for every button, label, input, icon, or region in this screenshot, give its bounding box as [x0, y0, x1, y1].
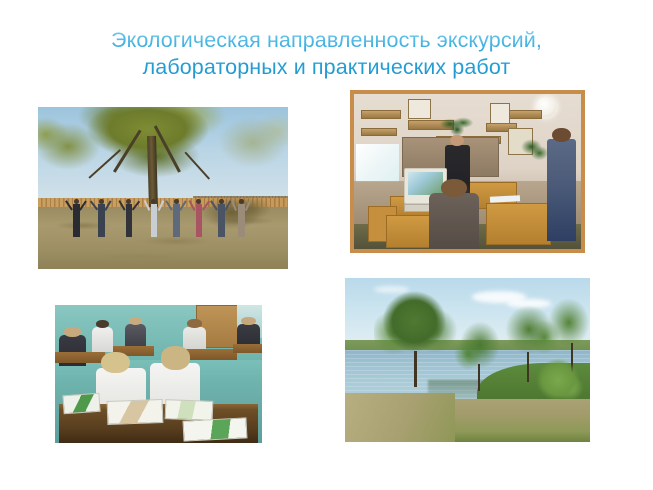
- student-figure: [218, 204, 225, 236]
- textbook: [106, 399, 163, 425]
- student-head: [64, 327, 81, 337]
- tree-trunk: [414, 351, 417, 388]
- standing-student-figure: [547, 139, 577, 241]
- potted-plant: [517, 136, 549, 167]
- wall-plaque: [361, 128, 397, 136]
- student-head: [101, 352, 130, 374]
- student-head: [74, 199, 79, 204]
- student-head: [174, 199, 179, 204]
- teacher-head: [450, 135, 464, 147]
- textbook: [183, 417, 248, 442]
- student-head: [96, 320, 109, 328]
- classroom-desk: [233, 344, 262, 354]
- textbook: [63, 393, 101, 414]
- student-head: [552, 128, 570, 142]
- student-head: [99, 199, 104, 204]
- classroom-desk: [55, 352, 105, 363]
- willow-tree: [453, 314, 507, 383]
- willow-tree: [374, 285, 457, 377]
- student-figure: [73, 204, 80, 236]
- photo-labwork: [55, 305, 262, 443]
- classroom-desk: [486, 203, 552, 245]
- photo-excursion: [38, 107, 288, 269]
- photo-excursion-content: [38, 107, 288, 269]
- photo-pond-content: [345, 278, 590, 442]
- tree-trunk: [147, 136, 158, 207]
- student-figure: [98, 204, 105, 236]
- student-head: [241, 317, 256, 326]
- tree-trunk: [527, 352, 530, 382]
- presentation-slide: Экологическая направленность экскурсий, …: [0, 0, 653, 490]
- student-body: [151, 204, 158, 236]
- dry-grass-slope: [345, 393, 455, 442]
- textbook: [164, 399, 212, 421]
- student-body: [238, 204, 245, 236]
- student-figure: [238, 204, 245, 236]
- tree-trunk: [478, 364, 480, 392]
- photo-pond: [345, 278, 590, 442]
- page-title: Экологическая направленность экскурсий, …: [60, 27, 593, 81]
- student-figure: [151, 204, 158, 236]
- photo-lesson-content: [354, 94, 581, 249]
- projection-screen: [356, 144, 399, 182]
- seated-student-figure: [429, 193, 479, 249]
- student-head: [129, 317, 142, 325]
- wall-portrait: [490, 103, 510, 124]
- wall-portrait: [408, 99, 430, 120]
- student-head: [187, 319, 202, 328]
- background-student: [125, 324, 146, 347]
- student-head: [239, 199, 244, 204]
- student-figure: [196, 204, 203, 236]
- student-head: [219, 199, 224, 204]
- monitor-display: [408, 172, 442, 195]
- student-figure: [173, 204, 180, 236]
- student-head: [161, 346, 190, 369]
- wall-plaque: [361, 110, 402, 120]
- photo-labwork-content: [55, 305, 262, 443]
- background-student: [92, 327, 113, 352]
- photo-lesson: [350, 90, 585, 253]
- student-figure: [126, 204, 133, 236]
- student-head: [441, 179, 467, 197]
- classroom-desk: [183, 349, 237, 360]
